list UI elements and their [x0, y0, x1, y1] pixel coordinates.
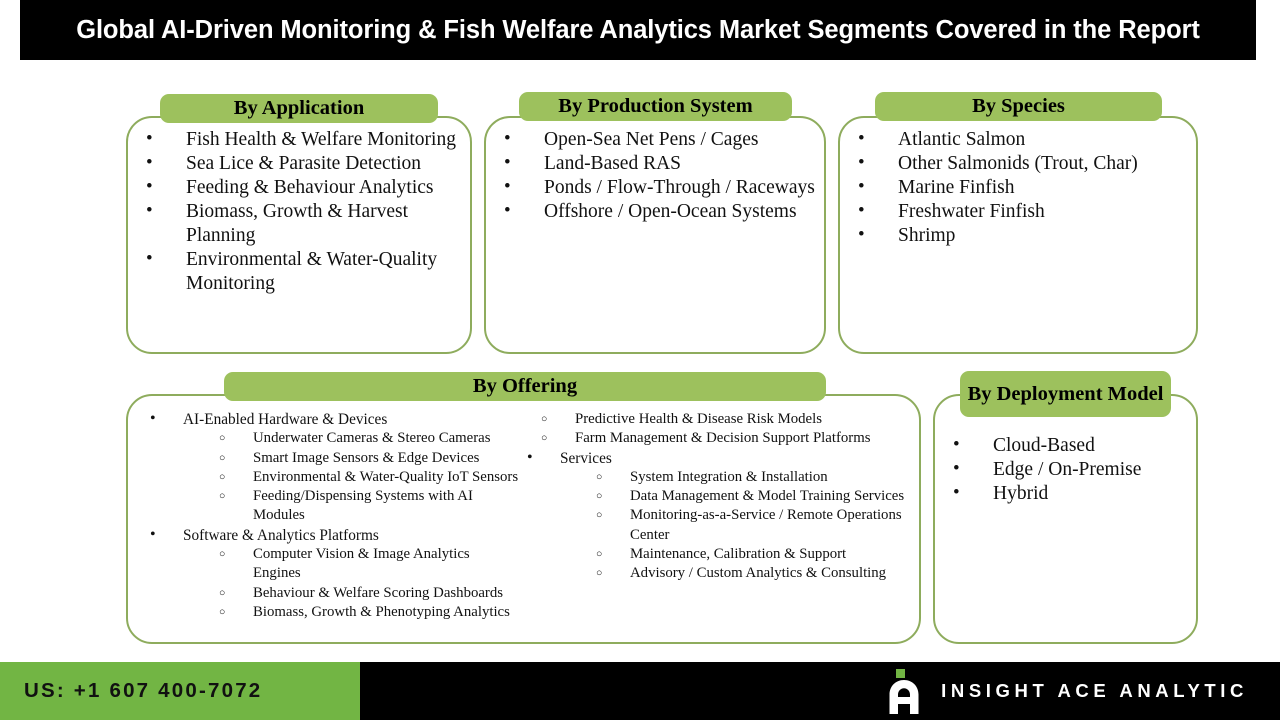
list-item: Monitoring-as-a-Service / Remote Operati…: [582, 506, 915, 545]
card-by-production-system-body: Open-Sea Net Pens / Cages Land-Based RAS…: [486, 128, 826, 224]
footer-brand-bar: INSIGHT ACE ANALYTIC: [360, 662, 1280, 720]
list-item: Farm Management & Decision Support Platf…: [527, 429, 915, 448]
list-item: Open-Sea Net Pens / Cages: [486, 128, 826, 152]
brand-name: INSIGHT ACE ANALYTIC: [941, 680, 1248, 702]
list-item: AI-Enabled Hardware & Devices Underwater…: [128, 410, 520, 526]
list-item: Feeding/Dispensing Systems with AI Modul…: [205, 487, 520, 526]
card-by-production-system-title: By Production System: [558, 94, 752, 119]
list-item: Environmental & Water-Quality IoT Sensor…: [205, 468, 520, 487]
offering-sublist: Underwater Cameras & Stereo Cameras Smar…: [205, 429, 520, 525]
offering-left-list: AI-Enabled Hardware & Devices Underwater…: [128, 410, 520, 622]
list-item: Biomass, Growth & Phenotyping Analytics: [205, 603, 520, 622]
application-list: Fish Health & Welfare Monitoring Sea Lic…: [128, 128, 472, 296]
logo-green-square-icon: [896, 669, 905, 678]
list-item: Feeding & Behaviour Analytics: [128, 176, 472, 200]
card-by-deployment-model-banner: By Deployment Model: [960, 371, 1171, 417]
list-item: Freshwater Finfish: [840, 200, 1198, 224]
list-item: Behaviour & Welfare Scoring Dashboards: [205, 584, 520, 603]
card-by-species-banner: By Species: [875, 92, 1162, 121]
species-list: Atlantic Salmon Other Salmonids (Trout, …: [840, 128, 1198, 248]
offering-sublist: System Integration & Installation Data M…: [582, 468, 915, 584]
card-by-deployment-model-body: Cloud-Based Edge / On-Premise Hybrid: [935, 434, 1198, 506]
list-item: Hybrid: [935, 482, 1198, 506]
list-item: Environmental & Water-Quality Monitoring: [128, 248, 472, 296]
card-by-production-system-banner: By Production System: [519, 92, 792, 121]
card-by-application-title: By Application: [234, 96, 364, 121]
footer-phone-bar: US: +1 607 400-7072: [0, 662, 360, 720]
insight-ace-a-mark-icon: [885, 668, 919, 714]
card-by-species-body: Atlantic Salmon Other Salmonids (Trout, …: [840, 128, 1198, 248]
list-item: Services System Integration & Installati…: [505, 449, 915, 584]
list-item: Maintenance, Calibration & Support: [582, 545, 915, 564]
deployment-model-list: Cloud-Based Edge / On-Premise Hybrid: [935, 434, 1198, 506]
card-by-application-body: Fish Health & Welfare Monitoring Sea Lic…: [128, 128, 472, 296]
list-item: Advisory / Custom Analytics & Consulting: [582, 564, 915, 583]
card-by-offering-title: By Offering: [473, 374, 577, 399]
list-item: Predictive Health & Disease Risk Models: [527, 410, 915, 429]
list-item: Ponds / Flow-Through / Raceways: [486, 176, 826, 200]
card-by-application-banner: By Application: [160, 94, 438, 123]
offering-sublist: Computer Vision & Image Analytics Engine…: [205, 545, 520, 622]
page-title: Global AI-Driven Monitoring & Fish Welfa…: [76, 15, 1200, 46]
list-item: System Integration & Installation: [582, 468, 915, 487]
list-item: Software & Analytics Platforms Computer …: [128, 526, 520, 622]
list-item: Smart Image Sensors & Edge Devices: [205, 449, 520, 468]
card-by-deployment-model-title: By Deployment Model: [968, 382, 1164, 407]
brand-logo: INSIGHT ACE ANALYTIC: [885, 668, 1248, 714]
card-by-species-title: By Species: [972, 94, 1065, 119]
list-item: Cloud-Based: [935, 434, 1198, 458]
list-item: Shrimp: [840, 224, 1198, 248]
list-item: Biomass, Growth & Harvest Planning: [128, 200, 472, 248]
list-item: Atlantic Salmon: [840, 128, 1198, 152]
production-system-list: Open-Sea Net Pens / Cages Land-Based RAS…: [486, 128, 826, 224]
footer-phone-number[interactable]: US: +1 607 400-7072: [0, 679, 262, 703]
card-by-offering-body-left: AI-Enabled Hardware & Devices Underwater…: [128, 410, 520, 622]
offering-continued-subgroup: Predictive Health & Disease Risk Models …: [505, 410, 915, 449]
card-by-offering-body-right: Predictive Health & Disease Risk Models …: [505, 410, 915, 584]
offering-sublist: Predictive Health & Disease Risk Models …: [527, 410, 915, 449]
list-item: Underwater Cameras & Stereo Cameras: [205, 429, 520, 448]
list-item: Offshore / Open-Ocean Systems: [486, 200, 826, 224]
list-item: Fish Health & Welfare Monitoring: [128, 128, 472, 152]
list-item: Other Salmonids (Trout, Char): [840, 152, 1198, 176]
list-item: Sea Lice & Parasite Detection: [128, 152, 472, 176]
offering-right-list: Predictive Health & Disease Risk Models …: [505, 410, 915, 584]
logo-letter-a-icon: [889, 680, 919, 714]
page-header-bar: Global AI-Driven Monitoring & Fish Welfa…: [20, 0, 1256, 60]
list-item: Land-Based RAS: [486, 152, 826, 176]
list-item: Marine Finfish: [840, 176, 1198, 200]
list-item: Edge / On-Premise: [935, 458, 1198, 482]
card-by-offering-banner: By Offering: [224, 372, 826, 401]
list-item: Data Management & Model Training Service…: [582, 487, 915, 506]
card-by-deployment-model: [933, 394, 1198, 644]
list-item: Computer Vision & Image Analytics Engine…: [205, 545, 520, 584]
